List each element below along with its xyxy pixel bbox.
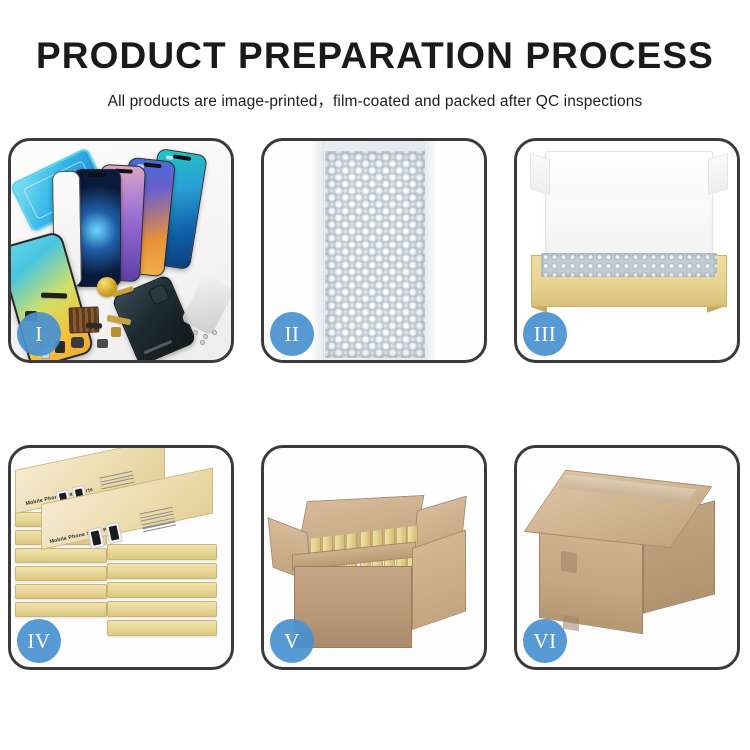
page-title: PRODUCT PREPARATION PROCESS: [0, 0, 750, 74]
box-edge: [15, 566, 107, 581]
chip-grid-icon: [69, 306, 100, 333]
step-panel-5: V: [261, 445, 487, 670]
box-edge: [15, 584, 107, 599]
box-edge: [107, 582, 217, 598]
page-subtitle: All products are image-printed，film-coat…: [0, 74, 750, 111]
pouch-seam-left: [313, 141, 324, 360]
box-edge: [15, 548, 107, 563]
step-panel-6: VI: [514, 445, 740, 670]
step-badge-6: VI: [523, 619, 567, 663]
packing-tape-tab: [561, 551, 577, 574]
bubble-wrapped-contents: [541, 253, 717, 277]
flex-cable-icon: [41, 293, 67, 299]
foam-sheet: [549, 199, 709, 261]
infographic-page: PRODUCT PREPARATION PROCESS All products…: [0, 0, 750, 750]
flex-cable-icon: [86, 322, 102, 328]
small-component-icon: [71, 337, 84, 348]
step-panel-2: II: [261, 138, 487, 363]
header: PRODUCT PREPARATION PROCESS All products…: [0, 0, 750, 111]
box-edge: [107, 620, 217, 636]
pouch-seam-right: [424, 141, 435, 360]
small-component-icon: [97, 339, 108, 348]
box-edge: [107, 544, 217, 560]
packing-tape-tab: [563, 615, 579, 632]
step-panel-4: Mobile Phone Spare Parts Mobile Phone Sp…: [8, 445, 234, 670]
small-component-icon: [111, 327, 121, 337]
box-edge: [107, 601, 217, 617]
box-edge: [107, 563, 217, 579]
process-step-grid: I II III: [8, 138, 744, 678]
step-panel-3: III: [514, 138, 740, 363]
step-badge-4: IV: [17, 619, 61, 663]
step-panel-1: I: [8, 138, 234, 363]
carton-side-panel: [412, 529, 466, 630]
bubble-wrap-pouch: [313, 141, 435, 360]
step-badge-3: III: [523, 312, 567, 356]
step-badge-2: II: [270, 312, 314, 356]
step-badge-1: I: [17, 312, 61, 356]
box-edge: [15, 602, 107, 617]
screws-icon: [193, 330, 219, 346]
phone-screen-fan: [53, 149, 231, 294]
bubble-texture: [325, 151, 425, 358]
step-badge-5: V: [270, 619, 314, 663]
